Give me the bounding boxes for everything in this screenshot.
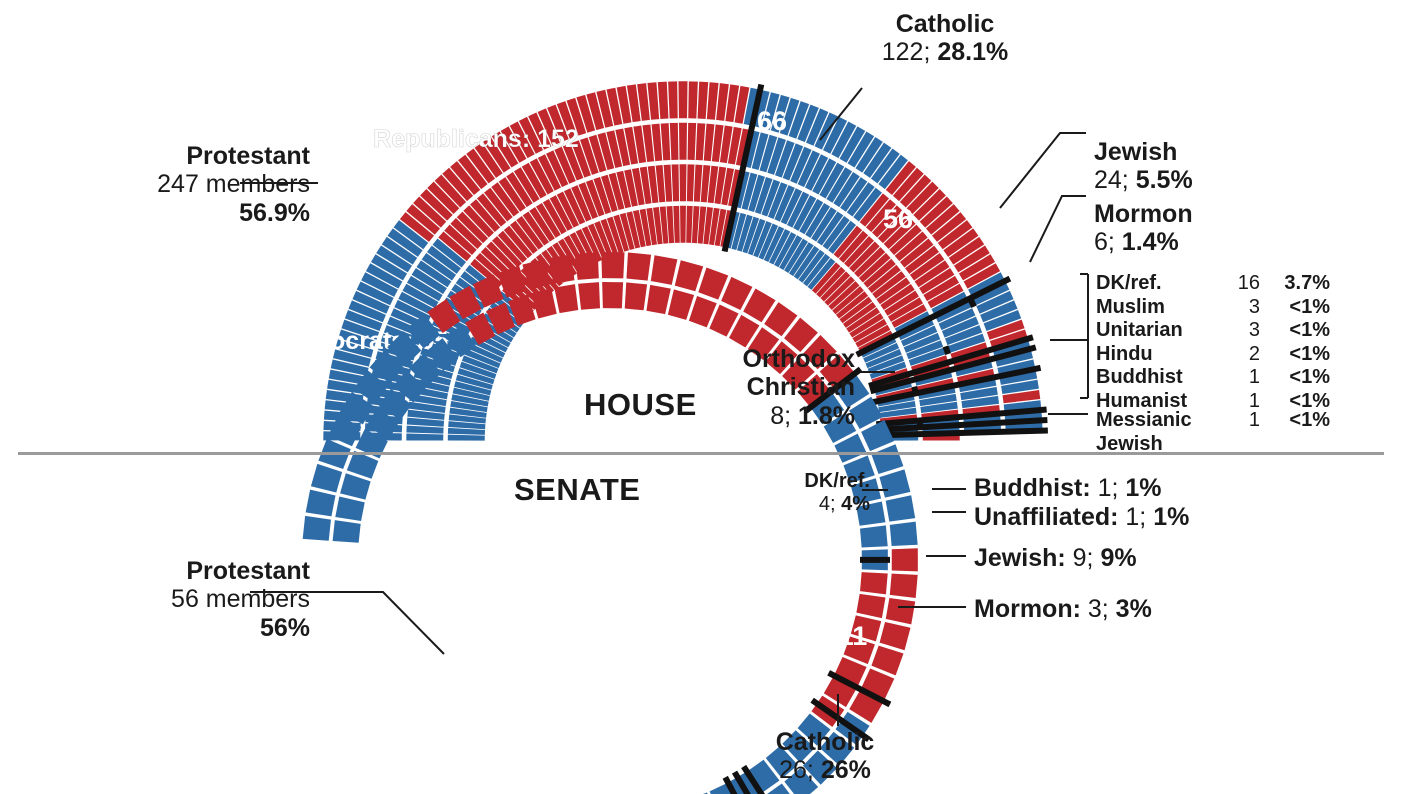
senate-protestant-pct: 56%	[80, 614, 310, 642]
messianic-table: Messianic 1 <1% Jewish	[1096, 409, 1330, 456]
senate-protestant-members: 56 members	[80, 585, 310, 613]
minor-religion-count: 3	[1214, 319, 1260, 343]
house-orthodox-label: Orthodox Christian 8; 1.8%	[690, 345, 855, 430]
table-row: Muslim3<1%	[1096, 296, 1330, 320]
house-protestant-title: Protestant	[80, 142, 310, 170]
house-catholic-label: Catholic 122; 28.1%	[845, 10, 1045, 67]
house-orthodox-detail: 8; 1.8%	[690, 402, 855, 430]
table-row: Unitarian3<1%	[1096, 319, 1330, 343]
infographic-root: Republicans: 152Democrats: 9566562135151…	[0, 0, 1402, 794]
senate-catholic-count: 26;	[779, 756, 821, 784]
senate-protestant-label: Protestant 56 members 56%	[80, 557, 310, 642]
house-jewish-label: Jewish 24; 5.5%	[1094, 138, 1193, 195]
house-catholic-title: Catholic	[845, 10, 1045, 38]
senate-dkref-label: DK/ref. 4; 4%	[700, 470, 870, 515]
senate-catholic-rep-count: 11	[839, 621, 868, 651]
senate-unaffiliated-title: Unaffiliated:	[974, 503, 1125, 531]
house-orthodox-pct: 1.8%	[798, 402, 855, 430]
minor-religion-name: Buddhist	[1096, 366, 1214, 390]
messianic-count: 1	[1214, 409, 1260, 433]
minor-religion-pct: <1%	[1260, 343, 1330, 367]
house-jewish-title: Jewish	[1094, 138, 1193, 166]
senate-jewish-title: Jewish:	[974, 544, 1073, 572]
table-row: Jewish	[1096, 433, 1330, 457]
house-messianic-jewish-row: Messianic 1 <1% Jewish	[1096, 409, 1330, 456]
minor-religion-pct: <1%	[1260, 296, 1330, 320]
senate-protestant-dem-count: 21	[407, 535, 437, 565]
senate-unaffiliated-pct: 1%	[1153, 503, 1189, 531]
house-catholic-pct: 28.1%	[937, 38, 1008, 66]
senate-mormon-title: Mormon:	[974, 595, 1088, 623]
senate-catholic-dem-count: 15	[754, 681, 784, 711]
minor-religion-count: 16	[1214, 272, 1260, 296]
senate-catholic-detail: 26; 26%	[700, 756, 950, 784]
senate-chamber-label: SENATE	[514, 472, 640, 507]
messianic-name-line2: Jewish	[1096, 433, 1214, 457]
senate-dkref-pct: 4%	[841, 493, 870, 515]
house-catholic-detail: 122; 28.1%	[845, 38, 1045, 66]
senate-dkref-title: DK/ref.	[700, 470, 870, 493]
house-mormon-label: Mormon 6; 1.4%	[1094, 200, 1193, 257]
minor-religions-table-body: DK/ref.163.7%Muslim3<1%Unitarian3<1%Hind…	[1096, 272, 1330, 414]
senate-unaffiliated-label: Unaffiliated: 1; 1%	[974, 503, 1189, 531]
messianic-pct: <1%	[1260, 409, 1330, 433]
house-orthodox-title-line1: Orthodox	[690, 345, 855, 373]
house-jewish-count: 24;	[1094, 166, 1136, 194]
senate-catholic-label: Catholic 26; 26%	[700, 728, 950, 785]
house-protestant-members: 247 members	[80, 170, 310, 198]
house-mormon-pct: 1.4%	[1122, 228, 1179, 256]
house-jewish-pct: 5.5%	[1136, 166, 1193, 194]
minor-religion-count: 2	[1214, 343, 1260, 367]
minor-religion-pct: <1%	[1260, 366, 1330, 390]
house-minor-religions-table: DK/ref.163.7%Muslim3<1%Unitarian3<1%Hind…	[1096, 272, 1330, 414]
minor-religion-count: 3	[1214, 296, 1260, 320]
minor-religion-name: DK/ref.	[1096, 272, 1214, 296]
house-jewish-detail: 24; 5.5%	[1094, 166, 1193, 194]
table-row: Hindu2<1%	[1096, 343, 1330, 367]
table-row: DK/ref.163.7%	[1096, 272, 1330, 296]
house-mormon-detail: 6; 1.4%	[1094, 228, 1193, 256]
senate-mormon-label: Mormon: 3; 3%	[974, 595, 1152, 623]
senate-dkref-detail: 4; 4%	[700, 493, 870, 516]
minor-religion-name: Hindu	[1096, 343, 1214, 367]
senate-mormon-pct: 3%	[1116, 595, 1152, 623]
minor-religion-pct: 3.7%	[1260, 272, 1330, 296]
senate-unaffiliated-count: 1;	[1125, 503, 1153, 531]
senate-buddhist-title: Buddhist:	[974, 474, 1098, 502]
house-orthodox-count: 8;	[770, 402, 798, 430]
senate-jewish-label: Jewish: 9; 9%	[974, 544, 1137, 572]
house-protestant-label: Protestant 247 members 56.9%	[80, 142, 310, 227]
house-protestant-pct: 56.9%	[80, 199, 310, 227]
minor-religion-name: Unitarian	[1096, 319, 1214, 343]
table-row: Messianic 1 <1%	[1096, 409, 1330, 433]
republicans-in-arc-label: Republicans: 152	[373, 125, 579, 153]
house-mormon-title: Mormon	[1094, 200, 1193, 228]
senate-dkref-count: 4;	[819, 493, 841, 515]
minor-religion-count: 1	[1214, 366, 1260, 390]
house-orthodox-title-line2: Christian	[690, 373, 855, 401]
house-catholic-count: 122;	[882, 38, 938, 66]
senate-protestant-title: Protestant	[80, 557, 310, 585]
table-row: Buddhist1<1%	[1096, 366, 1330, 390]
house-mormon-count: 6;	[1094, 228, 1122, 256]
minor-religion-pct: <1%	[1260, 319, 1330, 343]
senate-jewish-pct: 9%	[1100, 544, 1136, 572]
senate-buddhist-pct: 1%	[1125, 474, 1161, 502]
minor-religion-name: Muslim	[1096, 296, 1214, 320]
senate-protestant-rep-count: 35	[538, 691, 568, 721]
messianic-name-line1: Messianic	[1096, 409, 1214, 433]
senate-catholic-pct: 26%	[821, 756, 871, 784]
senate-buddhist-count: 1;	[1098, 474, 1126, 502]
house-chamber-label: HOUSE	[584, 387, 697, 422]
senate-catholic-title: Catholic	[700, 728, 950, 756]
house-catholic-dem-count: 66	[757, 106, 787, 136]
senate-jewish-count: 9;	[1073, 544, 1101, 572]
senate-buddhist-label: Buddhist: 1; 1%	[974, 474, 1162, 502]
senate-mormon-count: 3;	[1088, 595, 1116, 623]
house-catholic-rep-count: 56	[883, 204, 913, 234]
